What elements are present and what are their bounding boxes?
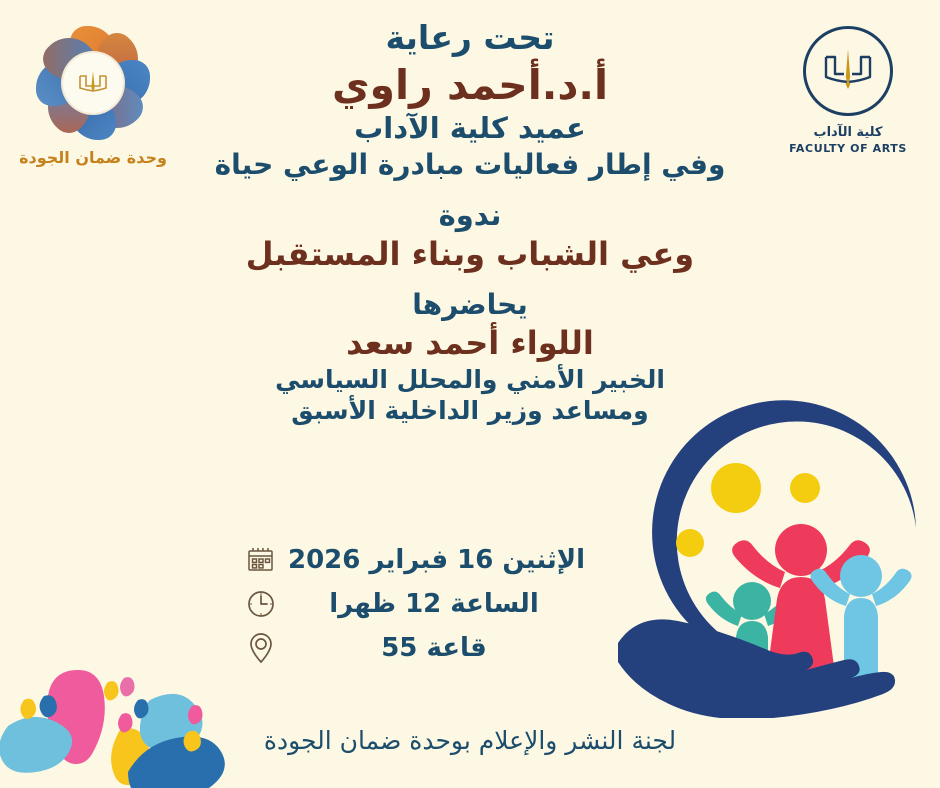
- event-time-text: الساعة 12 ظهرا: [282, 589, 580, 619]
- under-patronage-label: تحت رعاية: [0, 18, 940, 58]
- dot-medium: [790, 473, 820, 503]
- poster-text-content: تحت رعاية أ.د.أحمد راوي عميد كلية الآداب…: [0, 18, 940, 426]
- event-details-list: الإثنين 16 فبراير 2026 الساعة 12 ظهرا: [240, 538, 580, 670]
- event-type: ندوة: [0, 198, 940, 233]
- event-location-text: قاعة 55: [282, 633, 580, 663]
- dot-small: [676, 529, 704, 557]
- initiative-line: وفي إطار فعاليات مبادرة الوعي حياة: [0, 148, 940, 182]
- event-topic: وعي الشباب وبناء المستقبل: [0, 235, 940, 274]
- footer-credit: لجنة النشر والإعلام بوحدة ضمان الجودة: [0, 726, 940, 755]
- clock-icon: [240, 588, 282, 620]
- patron-title: عميد كلية الآداب: [0, 111, 940, 146]
- patron-name: أ.د.أحمد راوي: [0, 60, 940, 110]
- event-detail-date: الإثنين 16 فبراير 2026: [240, 538, 580, 582]
- calendar-icon: [240, 544, 282, 576]
- event-date-text: الإثنين 16 فبراير 2026: [282, 545, 585, 575]
- colorful-droplets-decoration: [0, 648, 250, 788]
- dot-large: [711, 463, 761, 513]
- event-detail-location: قاعة 55: [240, 626, 580, 670]
- speaker-name: اللواء أحمد سعد: [0, 324, 940, 363]
- presented-by-label: يحاضرها: [0, 288, 940, 322]
- hand-holding-family-in-circle-illustration: [616, 378, 940, 718]
- event-detail-time: الساعة 12 ظهرا: [240, 582, 580, 626]
- event-poster: وحدة ضمان الجودة كلية الآداب FACULTY OF …: [0, 0, 940, 788]
